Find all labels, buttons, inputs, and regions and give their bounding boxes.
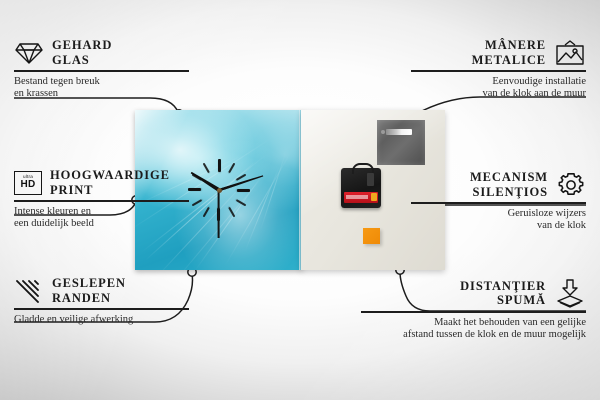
- callout-title-line1: DISTANŢIER: [460, 279, 546, 294]
- callout-desc-line2: van de klok: [406, 220, 586, 233]
- callout-desc-line1: Geruisloze wijzers: [406, 208, 586, 221]
- callout-title-line1: HOOGWAARDIGE: [50, 168, 170, 183]
- clock-second-hand: [218, 190, 220, 238]
- metal-hanger-plate: [377, 120, 425, 165]
- callout-rule: [411, 202, 586, 204]
- ultra-hd-icon-large-text: HD: [20, 180, 35, 190]
- ultra-hd-icon: ultra HD: [14, 171, 42, 195]
- callout-header: GESLEPEN RANDEN: [14, 276, 194, 305]
- gear-icon: [556, 171, 586, 199]
- callout-header: DISTANŢIER SPUMĂ: [356, 278, 586, 308]
- hanger-slot: [386, 129, 412, 135]
- callout-header: MECANISM SILENŢIOS: [406, 170, 586, 199]
- callout-rule: [411, 70, 586, 72]
- diamond-icon: [14, 40, 44, 66]
- callout-title-line2: SPUMĂ: [460, 293, 546, 308]
- callout-rule: [14, 70, 189, 72]
- callout-gehard-glas: GEHARD GLAS Bestand tegen breuk en krass…: [14, 38, 194, 101]
- callout-header: ultra HD HOOGWAARDIGE PRINT: [14, 168, 194, 197]
- clock-center-cap: [217, 188, 222, 193]
- callout-manere-metalice: MÂNERE METALICE Eenvoudige installatie v…: [406, 38, 586, 101]
- callout-desc-line1: Bestand tegen breuk: [14, 76, 194, 89]
- mechanism-shaft: [367, 173, 374, 186]
- callout-desc-line2: van de klok aan de muur: [406, 88, 586, 101]
- callout-desc-line1: Intense kleuren en: [14, 206, 194, 219]
- aa-battery: [344, 192, 378, 203]
- callout-geslepen-randen: GESLEPEN RANDEN Gladde en veilige afwerk…: [14, 276, 194, 326]
- battery-label: [346, 195, 368, 199]
- callout-title-line2: PRINT: [50, 183, 170, 198]
- quartz-clock-mechanism: [341, 168, 381, 208]
- callout-title-line2: RANDEN: [52, 291, 126, 306]
- callout-title-line2: SILENŢIOS: [470, 185, 548, 200]
- infographic-stage: GEHARD GLAS Bestand tegen breuk en krass…: [0, 0, 600, 400]
- callout-rule: [14, 308, 189, 310]
- callout-header: MÂNERE METALICE: [406, 38, 586, 67]
- spacer-press-icon: [554, 278, 586, 308]
- beveled-edge-icon: [14, 278, 44, 304]
- wall-hanging-frame-icon: [554, 39, 586, 67]
- callout-rule: [361, 311, 586, 313]
- callout-desc-line2: afstand tussen de klok en de muur mogeli…: [356, 329, 586, 342]
- callout-desc-line1: Eenvoudige installatie: [406, 76, 586, 89]
- callout-desc-line1: Gladde en veilige afwerking: [14, 314, 194, 327]
- battery-positive-terminal: [371, 193, 377, 201]
- callout-title-line1: MECANISM: [470, 170, 548, 185]
- foam-spacer-pad: [363, 228, 380, 244]
- callout-title-line1: GESLEPEN: [52, 276, 126, 291]
- callout-mecanism-silentios: MECANISM SILENŢIOS Geruisloze wijzers va…: [406, 170, 586, 233]
- callout-desc-line1: Maakt het behouden van een gelijke: [356, 317, 586, 330]
- hanger-screw-dot: [381, 130, 385, 134]
- callout-rule: [14, 200, 189, 202]
- callout-header: GEHARD GLAS: [14, 38, 194, 67]
- callout-title-line2: METALICE: [472, 53, 546, 68]
- callout-title-line1: MÂNERE: [472, 38, 546, 53]
- callout-desc-line2: en krassen: [14, 88, 194, 101]
- callout-distantier-spuma: DISTANŢIER SPUMĂ Maakt het behouden van …: [356, 278, 586, 342]
- callout-desc-line2: een duidelijk beeld: [14, 218, 194, 231]
- callout-hoogwaardige-print: ultra HD HOOGWAARDIGE PRINT Intense kleu…: [14, 168, 194, 231]
- callout-title-line2: GLAS: [52, 53, 112, 68]
- callout-title-line1: GEHARD: [52, 38, 112, 53]
